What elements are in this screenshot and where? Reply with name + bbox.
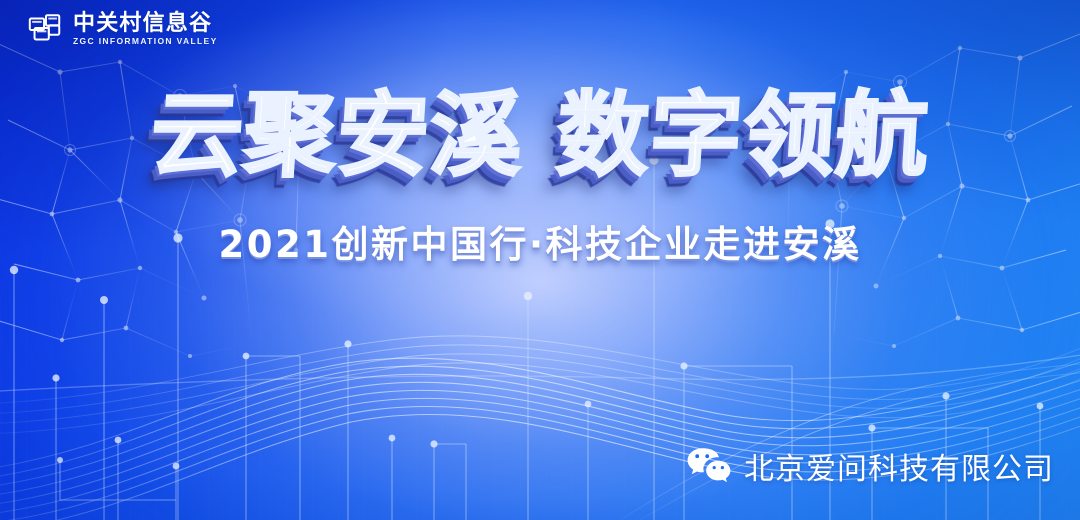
headline-part-1: 云聚安溪: [148, 86, 526, 185]
interlocking-squares-emblem-icon: [26, 10, 64, 48]
banner-canvas: 中关村信息谷 ZGC INFORMATION VALLEY 云聚安溪数字领航 2…: [0, 0, 1080, 520]
logo-name-cn: 中关村信息谷: [73, 12, 218, 34]
wechat-icon: [686, 446, 732, 486]
subtitle-text: 2021创新中国行·科技企业走进安溪: [218, 214, 861, 268]
headline: 云聚安溪数字领航: [0, 86, 1080, 185]
logo-text-block: 中关村信息谷 ZGC INFORMATION VALLEY: [73, 12, 218, 46]
headline-part-2: 数字领航: [554, 86, 932, 185]
logo-name-en: ZGC INFORMATION VALLEY: [73, 37, 218, 46]
zgc-logo: 中关村信息谷 ZGC INFORMATION VALLEY: [26, 10, 218, 48]
watermark-label: 北京爱问科技有限公司: [744, 444, 1054, 488]
wechat-watermark: 北京爱问科技有限公司: [686, 444, 1054, 488]
subtitle: 2021创新中国行·科技企业走进安溪: [0, 214, 1080, 268]
